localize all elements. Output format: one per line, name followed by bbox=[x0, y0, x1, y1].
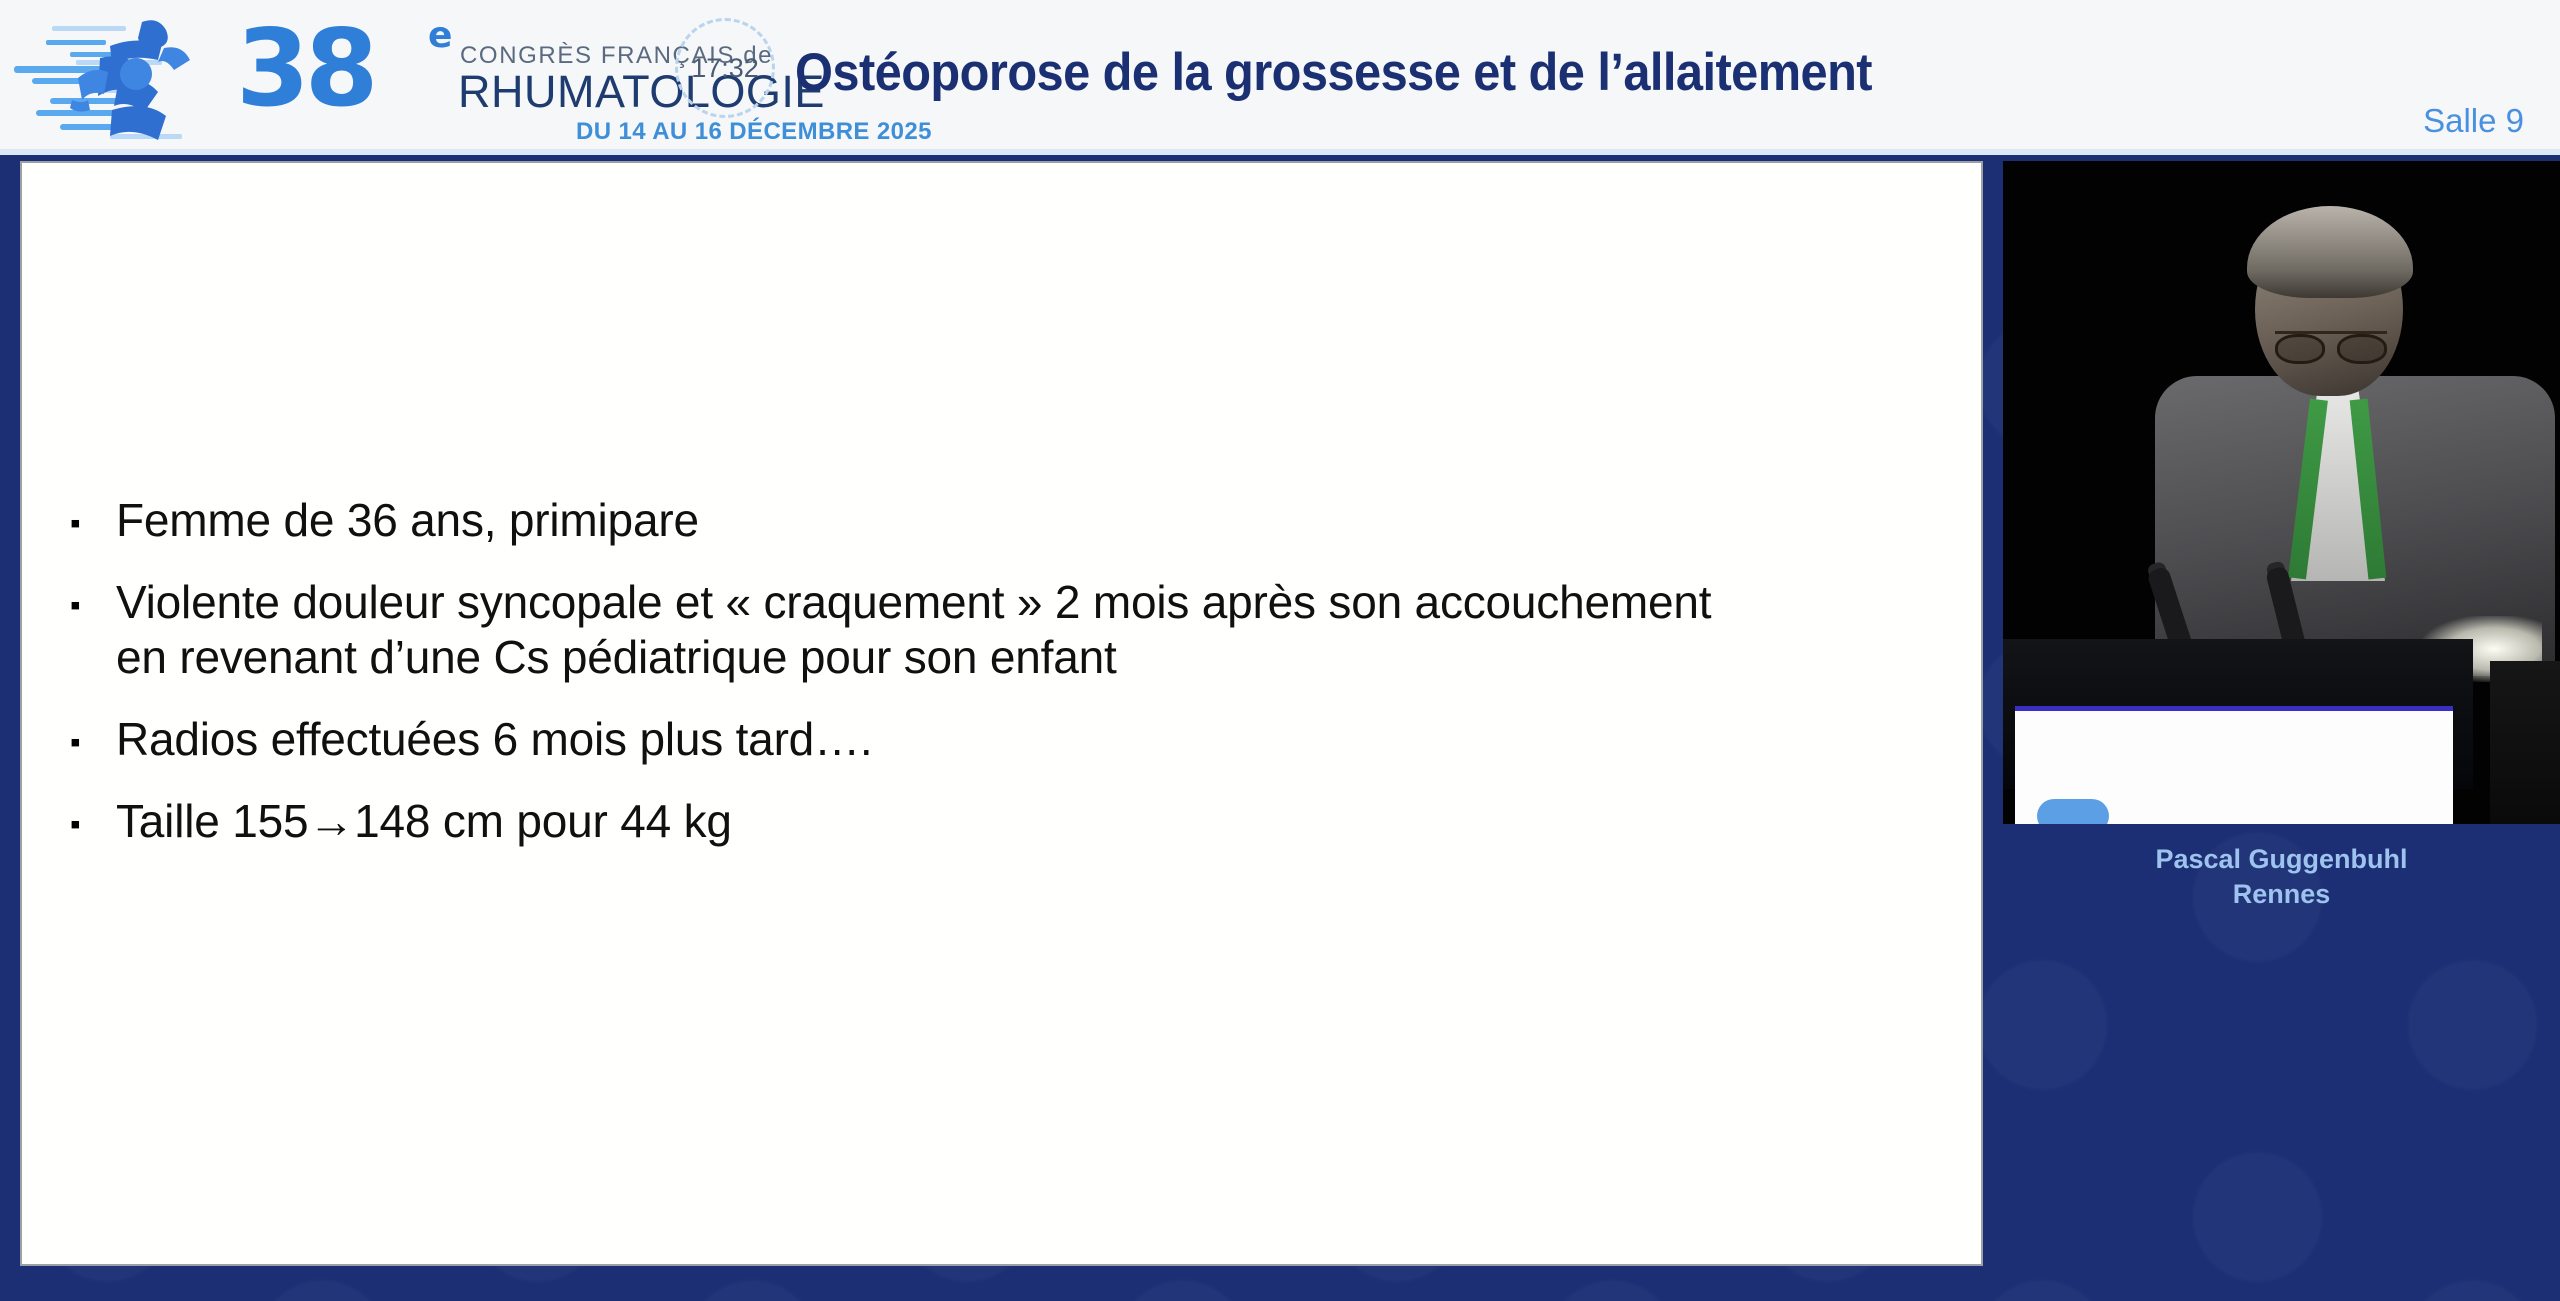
list-item: ▪ Violente douleur syncopale et « craque… bbox=[70, 575, 1750, 684]
list-item: ▪ Femme de 36 ans, primipare bbox=[70, 493, 1750, 547]
bullet-marker-icon: ▪ bbox=[70, 575, 116, 684]
page-header: 38 e CONGRÈS FRANÇAIS de RHUMATOLOGIE DU… bbox=[0, 0, 2560, 155]
speaker-caption: Pascal Guggenbuhl Rennes bbox=[2003, 842, 2560, 911]
bullet-marker-icon: ▪ bbox=[70, 794, 116, 848]
slide-bullet-list: ▪ Femme de 36 ans, primipare ▪ Violente … bbox=[70, 493, 1750, 848]
speaker-name: Pascal Guggenbuhl bbox=[2003, 842, 2560, 877]
logo-wordmark: 38 e CONGRÈS FRANÇAIS de RHUMATOLOGIE DU… bbox=[236, 12, 646, 150]
clock-dashed-circle-icon: 17:32 bbox=[675, 18, 775, 118]
room-label: Salle 9 bbox=[2423, 102, 2524, 140]
bullet-text: Radios effectuées 6 mois plus tard…. bbox=[116, 712, 872, 766]
running-figure-icon bbox=[14, 14, 224, 146]
bullet-marker-icon: ▪ bbox=[70, 712, 116, 766]
page-title: Ostéoporose de la grossesse et de l’alla… bbox=[795, 42, 1872, 103]
list-item: ▪ Taille 155→148 cm pour 44 kg bbox=[70, 794, 1750, 848]
livestream-viewport: 38 e CONGRÈS FRANÇAIS de RHUMATOLOGIE DU… bbox=[0, 0, 2560, 1301]
bullet-text: Taille 155→148 cm pour 44 kg bbox=[116, 794, 732, 848]
speaker-city: Rennes bbox=[2003, 877, 2560, 912]
stage-area: ▪ Femme de 36 ans, primipare ▪ Violente … bbox=[0, 161, 2560, 1301]
logo-dates: DU 14 AU 16 DÉCEMBRE 2025 bbox=[576, 118, 932, 146]
speaker-video-panel: Pascal Guggenbuhl Rennes bbox=[1983, 161, 2560, 1301]
edition-suffix: e bbox=[428, 18, 452, 54]
list-item: ▪ Radios effectuées 6 mois plus tard…. bbox=[70, 712, 1750, 766]
lectern-monitor bbox=[2015, 706, 2453, 824]
monitor-content-blob bbox=[2037, 799, 2109, 824]
bullet-text: Femme de 36 ans, primipare bbox=[116, 493, 699, 547]
congress-logo: 38 e CONGRÈS FRANÇAIS de RHUMATOLOGIE DU… bbox=[8, 4, 648, 152]
bullet-text: Violente douleur syncopale et « craqueme… bbox=[116, 575, 1750, 684]
bullet-marker-icon: ▪ bbox=[70, 493, 116, 547]
lectern-side-panel bbox=[2490, 661, 2560, 824]
edition-number: 38 bbox=[236, 16, 374, 122]
speaker-video[interactable] bbox=[2003, 161, 2560, 824]
presentation-slide[interactable]: ▪ Femme de 36 ans, primipare ▪ Violente … bbox=[20, 161, 1983, 1266]
speaker-glasses-icon bbox=[2275, 331, 2387, 355]
current-time: 17:32 bbox=[691, 53, 759, 84]
